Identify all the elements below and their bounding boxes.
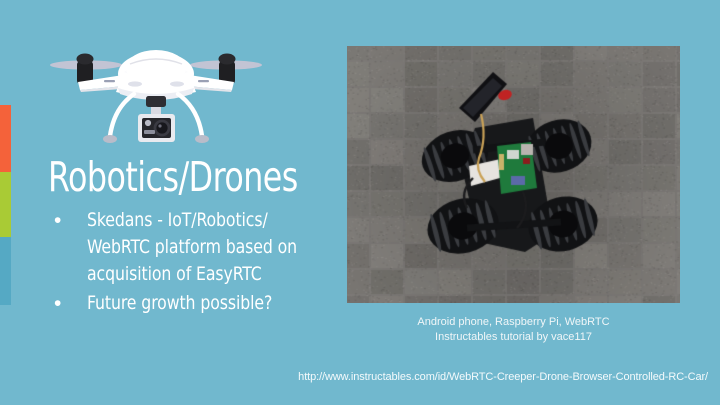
caption-line-2: Instructables tutorial by vace117	[347, 330, 680, 345]
gimbal-mount-icon	[146, 96, 166, 115]
photo-caption: Android phone, Raspberry Pi, WebRTC Inst…	[347, 315, 680, 345]
bullet-marker-icon: •	[50, 207, 87, 234]
bullet-text: Skedans - IoT/Robotics/ WebRTC platform …	[87, 207, 329, 288]
caption-line-1: Android phone, Raspberry Pi, WebRTC	[347, 315, 680, 330]
bullet-text: Future growth possible?	[87, 290, 329, 317]
presentation-slide: Robotics/Drones • Skedans - IoT/Robotics…	[0, 0, 720, 405]
bullet-marker-icon: •	[50, 290, 87, 317]
drone-illustration	[50, 28, 262, 150]
drone-body-icon	[116, 50, 196, 100]
accent-bar-orange	[0, 105, 11, 172]
rc-car-photo-canvas	[347, 46, 680, 303]
page-title: Robotics/Drones	[48, 156, 332, 199]
accent-bar-green	[0, 172, 11, 237]
action-camera-icon	[138, 114, 175, 142]
rc-car-photo	[347, 46, 680, 303]
source-url-link[interactable]: http://www.instructables.com/id/WebRTC-C…	[0, 371, 708, 383]
list-item: • Future growth possible?	[50, 290, 350, 317]
list-item: • Skedans - IoT/Robotics/ WebRTC platfor…	[50, 207, 350, 288]
accent-bar-blue	[0, 237, 11, 305]
bullet-list: • Skedans - IoT/Robotics/ WebRTC platfor…	[50, 207, 350, 319]
